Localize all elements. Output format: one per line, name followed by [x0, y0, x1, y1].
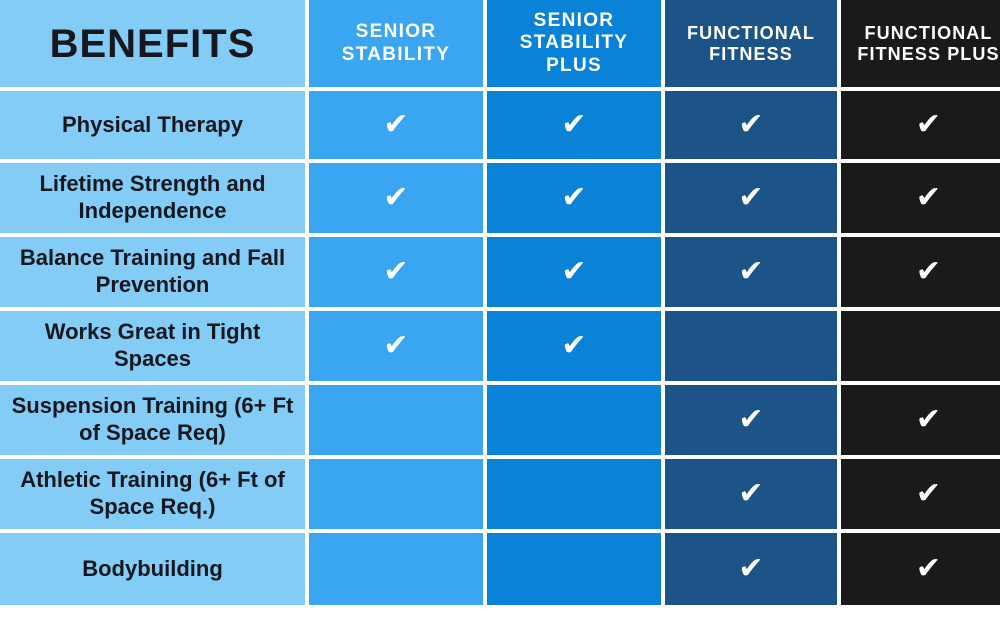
- table-cell: ✔: [665, 533, 837, 605]
- check-icon: ✔: [916, 479, 941, 509]
- table-cell: ✔: [309, 163, 483, 233]
- check-icon: ✔: [738, 479, 763, 509]
- row-label-works-great-in-tight-spaces: Works Great in Tight Spaces: [0, 311, 305, 381]
- check-icon: ✔: [916, 183, 941, 213]
- table-cell: ✔: [487, 311, 661, 381]
- table-cell: ✔: [841, 533, 1000, 605]
- table-cell: ✔: [309, 237, 483, 307]
- table-cell-empty: ✔: [309, 459, 483, 529]
- check-icon: ✔: [738, 110, 763, 140]
- check-icon: ✔: [561, 183, 586, 213]
- column-header-functional-fitness-plus: FUNCTIONAL FITNESS PLUS: [841, 0, 1000, 87]
- table-cell-empty: ✔: [309, 533, 483, 605]
- check-icon: ✔: [738, 257, 763, 287]
- check-icon: ✔: [738, 405, 763, 435]
- table-cell-empty: ✔: [487, 385, 661, 455]
- table-cell: ✔: [487, 237, 661, 307]
- check-icon: ✔: [383, 183, 408, 213]
- row-label-physical-therapy: Physical Therapy: [0, 91, 305, 159]
- check-icon: ✔: [738, 554, 763, 584]
- column-header-functional-fitness: FUNCTIONAL FITNESS: [665, 0, 837, 87]
- check-icon: ✔: [561, 331, 586, 361]
- check-icon: ✔: [738, 183, 763, 213]
- row-label-bodybuilding: Bodybuilding: [0, 533, 305, 605]
- row-label-suspension-training: Suspension Training (6+ Ft of Space Req): [0, 385, 305, 455]
- table-cell-empty: ✔: [665, 311, 837, 381]
- check-icon: ✔: [916, 257, 941, 287]
- check-icon: ✔: [383, 110, 408, 140]
- benefits-comparison-table: BENEFITS SENIOR STABILITY SENIOR STABILI…: [0, 0, 1000, 621]
- table-cell-empty: ✔: [841, 311, 1000, 381]
- table-cell: ✔: [665, 91, 837, 159]
- table-cell: ✔: [487, 91, 661, 159]
- table-cell: ✔: [309, 91, 483, 159]
- table-cell: ✔: [841, 385, 1000, 455]
- row-label-balance-training-and-fall-prevention: Balance Training and Fall Prevention: [0, 237, 305, 307]
- table-cell-empty: ✔: [487, 459, 661, 529]
- table-cell-empty: ✔: [487, 533, 661, 605]
- check-icon: ✔: [561, 110, 586, 140]
- page-title: BENEFITS: [0, 0, 305, 87]
- check-icon: ✔: [916, 110, 941, 140]
- row-label-lifetime-strength-and-independence: Lifetime Strength and Independence: [0, 163, 305, 233]
- table-cell: ✔: [841, 237, 1000, 307]
- column-header-senior-stability: SENIOR STABILITY: [309, 0, 483, 87]
- table-cell: ✔: [841, 459, 1000, 529]
- table-cell: ✔: [665, 459, 837, 529]
- check-icon: ✔: [916, 554, 941, 584]
- column-header-senior-stability-plus: SENIOR STABILITY PLUS: [487, 0, 661, 87]
- table-cell: ✔: [665, 237, 837, 307]
- table-cell: ✔: [487, 163, 661, 233]
- row-label-athletic-training: Athletic Training (6+ Ft of Space Req.): [0, 459, 305, 529]
- table-cell: ✔: [841, 91, 1000, 159]
- table-cell: ✔: [841, 163, 1000, 233]
- table-cell: ✔: [665, 163, 837, 233]
- table-cell-empty: ✔: [309, 385, 483, 455]
- table-cell: ✔: [309, 311, 483, 381]
- check-icon: ✔: [916, 405, 941, 435]
- check-icon: ✔: [383, 331, 408, 361]
- check-icon: ✔: [561, 257, 586, 287]
- check-icon: ✔: [383, 257, 408, 287]
- table-cell: ✔: [665, 385, 837, 455]
